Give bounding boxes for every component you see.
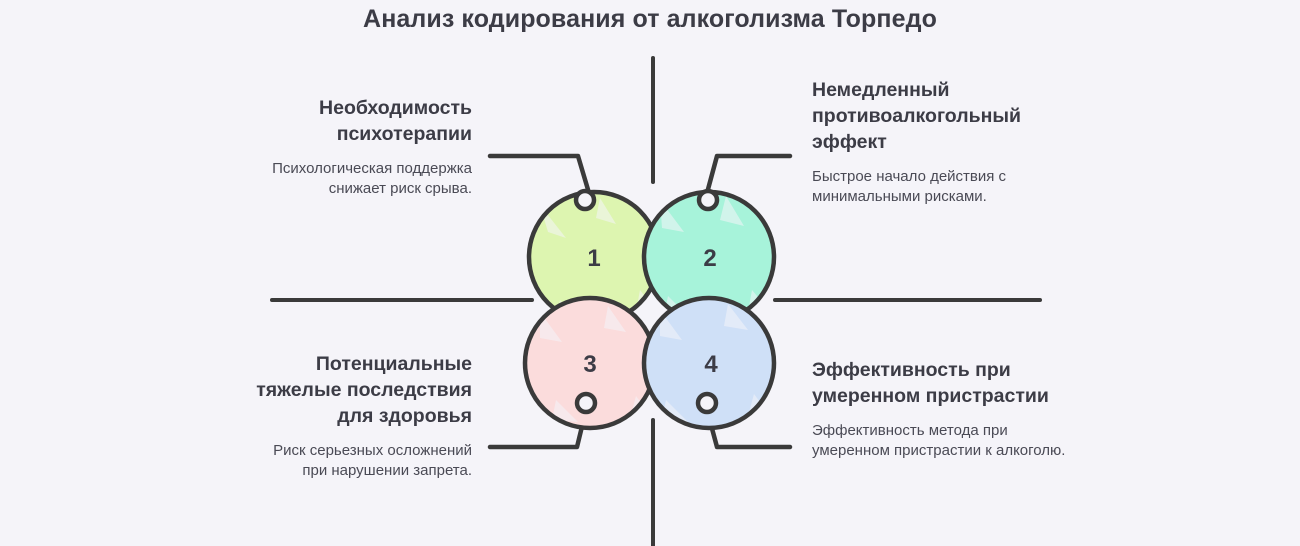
venn-circle-3[interactable]: 3 (525, 298, 655, 428)
node-block-1: Необходимость психотерапии Психологическ… (250, 96, 472, 198)
node-block-2: Немедленный противоалкогольный эффект Бы… (812, 78, 1068, 206)
node-2-heading: Немедленный противоалкогольный эффект (812, 78, 1068, 156)
venn-circle-3-number: 3 (583, 351, 596, 378)
node-4-body: Эффективность метода при умеренном прист… (812, 421, 1068, 461)
node-1-heading: Необходимость психотерапии (250, 96, 472, 148)
node-1-body: Психологическая поддержка снижает риск с… (250, 159, 472, 199)
connector-2 (707, 156, 790, 193)
venn-circle-4[interactable]: 4 (644, 298, 774, 428)
venn-circle-4-number: 4 (704, 351, 718, 378)
node-3-body: Риск серьезных осложнений при нарушении … (250, 441, 472, 481)
marker-node-3[interactable] (577, 394, 595, 412)
venn-circle-1-number: 1 (587, 245, 600, 272)
venn-diagram: 1 2 3 (0, 0, 1300, 546)
venn-circle-2-number: 2 (703, 245, 716, 272)
marker-node-2[interactable] (699, 191, 717, 209)
marker-node-4[interactable] (698, 394, 716, 412)
node-block-4: Эффективность при умеренном пристрастии … (812, 358, 1068, 460)
marker-node-1[interactable] (576, 191, 594, 209)
infographic-canvas: Анализ кодирования от алкоголизма Торпед… (0, 0, 1300, 546)
node-block-3: Потенциальные тяжелые последствия для зд… (250, 352, 472, 480)
connector-1 (490, 156, 589, 193)
node-3-heading: Потенциальные тяжелые последствия для зд… (250, 352, 472, 430)
node-4-heading: Эффективность при умеренном пристрастии (812, 358, 1068, 410)
node-2-body: Быстрое начало действия с минимальными р… (812, 167, 1068, 207)
